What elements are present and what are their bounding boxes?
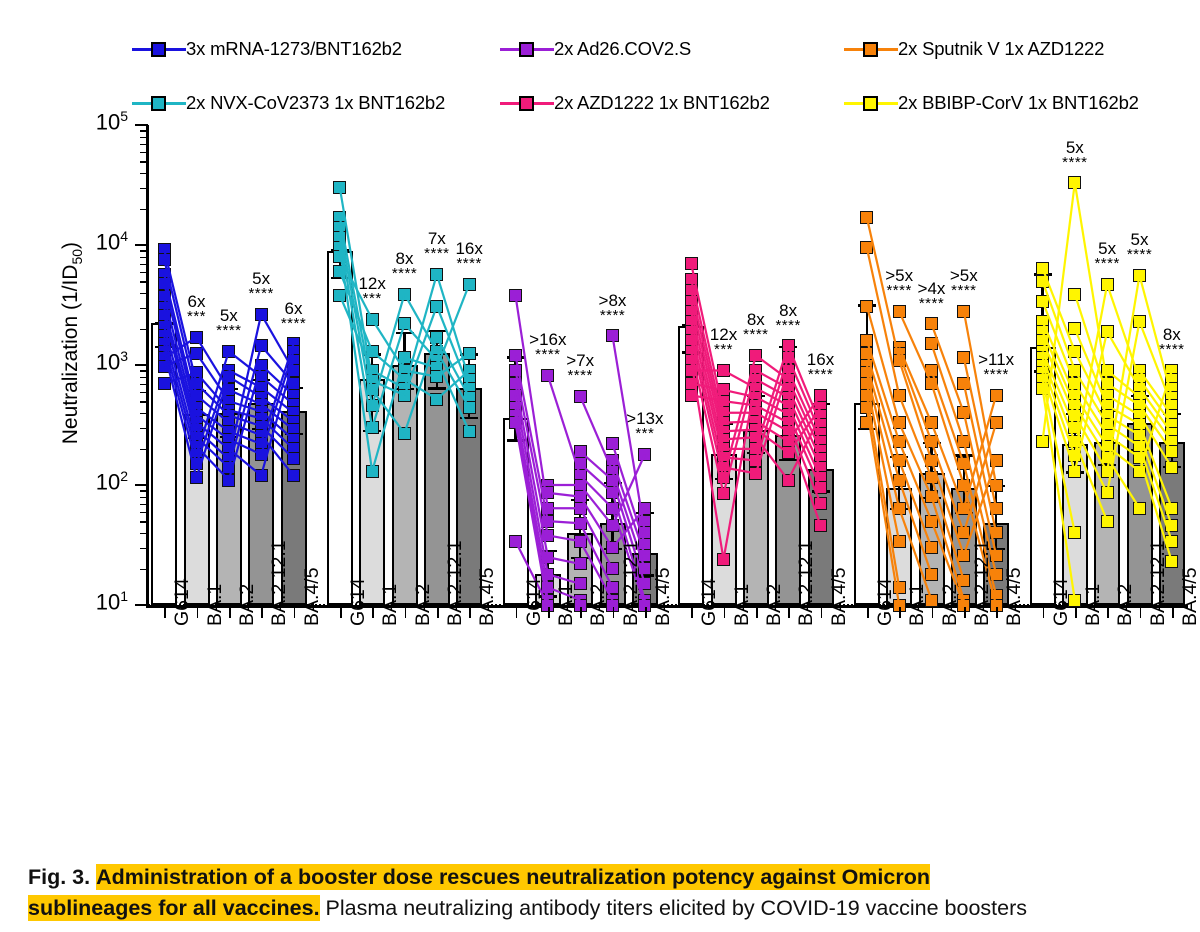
data-point: [1101, 486, 1114, 499]
legend-label-4: 2x AZD1222 1x BNT162b2: [554, 92, 770, 114]
significance-stars: ****: [540, 368, 620, 383]
x-axis-label: BA.2.12.1: [795, 540, 818, 626]
data-point: [606, 541, 619, 554]
data-point: [957, 502, 970, 515]
data-point: [366, 345, 379, 358]
data-point: [957, 406, 970, 419]
data-point: [574, 502, 587, 515]
y-tick-minor: [140, 370, 148, 372]
x-tick: [580, 607, 582, 618]
data-point: [1068, 421, 1081, 434]
data-point: [1101, 364, 1114, 377]
x-tick: [1107, 607, 1109, 618]
data-point: [1101, 451, 1114, 464]
square-marker-icon: [132, 38, 186, 60]
data-point: [1068, 288, 1081, 301]
y-tick-minor: [140, 144, 148, 146]
fold-change-annotation: 5x****: [221, 270, 301, 301]
legend-label-0: 3x mRNA-1273/BNT162b2: [186, 38, 402, 60]
data-point: [398, 389, 411, 402]
significance-stars: ***: [332, 291, 412, 306]
data-point: [749, 467, 762, 480]
data-point: [860, 389, 873, 402]
y-tick-label: 102: [28, 468, 128, 495]
data-point: [860, 401, 873, 414]
legend-item-3: 2x NVX-CoV2373 1x BNT162b2: [132, 90, 445, 116]
data-point: [1165, 445, 1178, 458]
y-tick-minor: [140, 264, 148, 266]
data-point: [158, 360, 171, 373]
data-point: [430, 393, 443, 406]
data-point: [606, 486, 619, 499]
data-point: [574, 535, 587, 548]
data-point: [893, 454, 906, 467]
data-point: [541, 529, 554, 542]
data-point: [606, 519, 619, 532]
y-tick-major: [135, 364, 148, 366]
x-tick: [516, 607, 518, 618]
significance-stars: ****: [781, 367, 861, 382]
x-axis-label: BA.2: [763, 584, 786, 626]
data-point: [430, 300, 443, 313]
y-tick-minor: [140, 392, 148, 394]
significance-stars: ****: [254, 316, 334, 331]
x-tick: [469, 607, 471, 618]
x-axis-label: BA.2: [587, 584, 610, 626]
y-tick-minor: [140, 152, 148, 154]
fold-change-annotation: >5x****: [924, 267, 1004, 298]
figure-panel: 3x mRNA-1273/BNT162b2 2x Ad26.COV2.S 2x …: [0, 0, 1200, 932]
data-point: [957, 457, 970, 470]
data-point: [398, 351, 411, 364]
y-tick-minor: [140, 449, 148, 451]
significance-stars: ***: [684, 342, 764, 357]
data-point: [717, 553, 730, 566]
y-tick-minor: [140, 293, 148, 295]
fold-change-annotation: 5x****: [1035, 139, 1115, 170]
data-point: [1068, 176, 1081, 189]
fold-change-annotation: 16x****: [429, 240, 509, 271]
data-point: [574, 445, 587, 458]
legend-item-5: 2x BBIBP-CorV 1x BNT162b2: [844, 90, 1139, 116]
y-tick-minor: [140, 272, 148, 274]
x-tick: [1043, 607, 1045, 618]
y-tick-minor: [140, 521, 148, 523]
x-axis-label: BA.2.12.1: [971, 540, 994, 626]
square-marker-icon: [500, 92, 554, 114]
data-point: [222, 474, 235, 487]
x-tick: [756, 607, 758, 618]
data-point: [509, 389, 522, 402]
data-point: [860, 211, 873, 224]
y-tick-label: 101: [28, 588, 128, 615]
x-axis-label: BA.1: [731, 584, 754, 626]
fold-change-annotation: 5x****: [1100, 231, 1180, 262]
x-axis-label: BA.1: [379, 584, 402, 626]
x-tick: [340, 607, 342, 618]
x-axis-label: G614: [347, 578, 370, 626]
x-tick: [724, 607, 726, 618]
data-point: [366, 399, 379, 412]
data-point: [860, 300, 873, 313]
data-point: [1133, 465, 1146, 478]
data-point: [1036, 295, 1049, 308]
x-tick: [899, 607, 901, 618]
fold-change-annotation: 8x****: [748, 302, 828, 333]
x-axis-label: BA.2: [1114, 584, 1137, 626]
data-point: [398, 427, 411, 440]
y-tick-minor: [140, 308, 148, 310]
data-point: [1036, 275, 1049, 288]
x-tick: [197, 607, 199, 618]
error-bar-cap: [955, 454, 973, 456]
data-point: [990, 454, 1003, 467]
x-axis-label: BA.2: [236, 584, 259, 626]
data-point: [541, 486, 554, 499]
data-point: [190, 389, 203, 402]
y-tick-minor: [140, 161, 148, 163]
data-point: [1101, 278, 1114, 291]
data-point: [606, 474, 619, 487]
significance-stars: ***: [605, 426, 685, 441]
data-point: [860, 241, 873, 254]
data-point: [509, 416, 522, 429]
data-point: [990, 526, 1003, 539]
x-tick: [867, 607, 869, 618]
plot-area: 6x***5x****5x****6x****12x***8x****7x***…: [148, 125, 1188, 605]
x-axis-label: G614: [698, 578, 721, 626]
y-tick-minor: [140, 209, 148, 211]
data-point: [606, 329, 619, 342]
data-point: [717, 487, 730, 500]
x-axis-label: BA.4/5: [1003, 567, 1026, 626]
x-tick: [294, 607, 296, 618]
significance-stars: ****: [1100, 247, 1180, 262]
data-point: [814, 519, 827, 532]
data-point: [893, 502, 906, 515]
data-point: [190, 457, 203, 470]
data-point: [957, 479, 970, 492]
data-point: [574, 557, 587, 570]
square-marker-icon: [500, 38, 554, 60]
fold-change-annotation: 16x****: [781, 351, 861, 382]
data-point: [509, 535, 522, 548]
x-axis-label: BA.2: [412, 584, 435, 626]
data-point: [158, 277, 171, 290]
x-axis-label: BA.1: [906, 584, 929, 626]
data-point: [814, 389, 827, 402]
data-point: [685, 257, 698, 270]
data-point: [541, 502, 554, 515]
data-point: [463, 425, 476, 438]
y-tick-minor: [140, 188, 148, 190]
data-point: [1101, 325, 1114, 338]
significance-stars: ****: [956, 367, 1036, 382]
significance-stars: ****: [1035, 155, 1115, 170]
x-axis-label: BA.2: [939, 584, 962, 626]
data-point: [893, 354, 906, 367]
square-marker-icon: [132, 92, 186, 114]
fold-change-annotation: 8x****: [1132, 326, 1200, 357]
legend-label-1: 2x Ad26.COV2.S: [554, 38, 691, 60]
x-tick: [261, 607, 263, 618]
legend-item-2: 2x Sputnik V 1x AZD1222: [844, 36, 1104, 62]
data-point: [990, 416, 1003, 429]
error-bar-cap: [460, 417, 478, 419]
data-point: [509, 364, 522, 377]
x-tick: [964, 607, 966, 618]
y-tick-minor: [140, 137, 148, 139]
y-tick-minor: [140, 533, 148, 535]
y-tick-label: 103: [28, 348, 128, 375]
data-point: [158, 377, 171, 390]
data-point: [255, 339, 268, 352]
chart-legend: 3x mRNA-1273/BNT162b2 2x Ad26.COV2.S 2x …: [132, 36, 1188, 120]
data-point: [893, 389, 906, 402]
x-axis-label: G614: [171, 578, 194, 626]
data-point: [1101, 465, 1114, 478]
data-point: [782, 446, 795, 459]
data-point: [255, 448, 268, 461]
data-point: [925, 337, 938, 350]
data-point: [925, 364, 938, 377]
x-axis-label: G614: [523, 578, 546, 626]
x-axis-label: G614: [1050, 578, 1073, 626]
y-tick-minor: [140, 329, 148, 331]
caption-body: Plasma neutralizing antibody titers elic…: [320, 896, 1027, 920]
data-point: [925, 317, 938, 330]
significance-stars: ****: [573, 308, 653, 323]
data-point: [638, 502, 651, 515]
y-tick-minor: [140, 281, 148, 283]
data-point: [782, 474, 795, 487]
data-point: [366, 465, 379, 478]
x-tick: [613, 607, 615, 618]
data-point: [1068, 322, 1081, 335]
x-tick: [788, 607, 790, 618]
data-point: [255, 469, 268, 482]
data-point: [430, 370, 443, 383]
legend-label-5: 2x BBIBP-CorV 1x BNT162b2: [898, 92, 1139, 114]
data-point: [287, 469, 300, 482]
y-tick-minor: [140, 257, 148, 259]
caption-highlight-line2: sublineages for all vaccines.: [28, 895, 320, 921]
data-point: [925, 515, 938, 528]
legend-item-1: 2x Ad26.COV2.S: [500, 36, 691, 62]
x-axis-label: BA.2.12.1: [444, 540, 467, 626]
fold-change-annotation: 6x****: [254, 300, 334, 331]
y-tick-minor: [140, 250, 148, 252]
data-point: [990, 479, 1003, 492]
data-point: [1165, 519, 1178, 532]
data-point: [1133, 451, 1146, 464]
x-axis-label: BA.1: [204, 584, 227, 626]
data-point: [1068, 449, 1081, 462]
y-tick-minor: [140, 173, 148, 175]
data-point: [860, 416, 873, 429]
y-tick-minor: [140, 413, 148, 415]
x-axis-label: BA.2.12.1: [268, 540, 291, 626]
data-point: [366, 383, 379, 396]
data-point: [1068, 364, 1081, 377]
y-tick-major: [135, 484, 148, 486]
data-point: [860, 334, 873, 347]
y-tick-major: [135, 244, 148, 246]
y-tick-major: [135, 604, 148, 606]
caption-highlight-line1: Administration of a booster dose rescues…: [96, 864, 930, 890]
data-point: [925, 416, 938, 429]
error-bar-cap: [428, 387, 446, 389]
data-point: [957, 526, 970, 539]
data-point: [333, 250, 346, 263]
significance-stars: ****: [924, 283, 1004, 298]
y-tick-minor: [140, 548, 148, 550]
figure-caption: Fig. 3. Administration of a booster dose…: [28, 862, 1184, 924]
bar: [503, 418, 529, 605]
fold-change-annotation: >13x***: [605, 410, 685, 441]
x-tick: [1140, 607, 1142, 618]
data-point: [1036, 262, 1049, 275]
data-point: [1165, 502, 1178, 515]
y-tick-minor: [140, 377, 148, 379]
data-point: [1165, 461, 1178, 474]
data-point: [925, 377, 938, 390]
legend-label-2: 2x Sputnik V 1x AZD1222: [898, 38, 1104, 60]
x-axis-label: BA.4/5: [828, 567, 851, 626]
x-axis-label: BA.4/5: [301, 567, 324, 626]
x-axis-label: G614: [874, 578, 897, 626]
y-tick-minor: [140, 504, 148, 506]
x-tick: [372, 607, 374, 618]
data-point: [430, 331, 443, 344]
data-point: [541, 515, 554, 528]
data-point: [814, 481, 827, 494]
data-point: [366, 313, 379, 326]
data-point: [287, 452, 300, 465]
error-bar-cap: [507, 439, 525, 441]
data-point: [893, 535, 906, 548]
data-point: [957, 549, 970, 562]
x-axis-label: BA.2.12.1: [1147, 540, 1170, 626]
data-point: [509, 289, 522, 302]
data-point: [1068, 526, 1081, 539]
data-point: [990, 389, 1003, 402]
data-point: [333, 181, 346, 194]
x-axis-label: BA.1: [1082, 584, 1105, 626]
data-point: [749, 454, 762, 467]
x-tick: [164, 607, 166, 618]
x-tick: [996, 607, 998, 618]
x-tick: [821, 607, 823, 618]
data-point: [1036, 435, 1049, 448]
y-tick-minor: [140, 569, 148, 571]
legend-item-4: 2x AZD1222 1x BNT162b2: [500, 90, 770, 116]
y-tick-label: 105: [28, 108, 128, 135]
data-point: [1068, 465, 1081, 478]
data-point: [925, 435, 938, 448]
data-point: [222, 370, 235, 383]
data-point: [685, 364, 698, 377]
data-point: [717, 364, 730, 377]
data-point: [574, 390, 587, 403]
significance-stars: ****: [1132, 342, 1200, 357]
x-tick: [932, 607, 934, 618]
data-point: [925, 541, 938, 554]
x-tick: [405, 607, 407, 618]
x-tick: [1172, 607, 1174, 618]
data-point: [606, 502, 619, 515]
legend-label-3: 2x NVX-CoV2373 1x BNT162b2: [186, 92, 445, 114]
data-point: [222, 461, 235, 474]
y-tick-minor: [140, 401, 148, 403]
data-point: [158, 253, 171, 266]
x-tick: [1075, 607, 1077, 618]
data-point: [287, 364, 300, 377]
x-axis-label: BA.4/5: [476, 567, 499, 626]
x-tick: [645, 607, 647, 618]
data-point: [463, 278, 476, 291]
data-point: [893, 435, 906, 448]
data-point: [574, 517, 587, 530]
data-point: [463, 347, 476, 360]
data-point: [925, 471, 938, 484]
data-point: [717, 471, 730, 484]
bar: [854, 403, 880, 605]
x-tick: [229, 607, 231, 618]
data-point: [893, 416, 906, 429]
y-tick-minor: [140, 512, 148, 514]
data-point: [606, 562, 619, 575]
y-tick-label: 104: [28, 228, 128, 255]
data-point: [893, 474, 906, 487]
fold-change-annotation: >7x****: [540, 352, 620, 383]
x-tick: [548, 607, 550, 618]
data-point: [990, 502, 1003, 515]
data-point: [1133, 502, 1146, 515]
y-tick-minor: [140, 384, 148, 386]
y-tick-minor: [140, 130, 148, 132]
square-marker-icon: [844, 92, 898, 114]
fold-change-annotation: >11x****: [956, 351, 1036, 382]
data-point: [685, 389, 698, 402]
data-point: [398, 317, 411, 330]
y-tick-major: [135, 124, 148, 126]
data-point: [1036, 382, 1049, 395]
error-bar-cap: [396, 332, 414, 334]
data-point: [366, 421, 379, 434]
error-bar: [930, 442, 932, 497]
y-tick-minor: [140, 497, 148, 499]
legend-item-0: 3x mRNA-1273/BNT162b2: [132, 36, 402, 62]
data-point: [1068, 345, 1081, 358]
y-tick-minor: [140, 428, 148, 430]
figure-number: Fig. 3.: [28, 865, 90, 889]
data-point: [190, 471, 203, 484]
fold-change-annotation: >8x****: [573, 292, 653, 323]
x-axis-label: BA.4/5: [652, 567, 675, 626]
data-point: [925, 454, 938, 467]
data-point: [541, 551, 554, 564]
data-point: [638, 448, 651, 461]
significance-stars: ****: [429, 256, 509, 271]
data-point: [1068, 409, 1081, 422]
data-point: [957, 435, 970, 448]
data-point: [814, 497, 827, 510]
data-point: [1101, 515, 1114, 528]
data-point: [222, 345, 235, 358]
significance-stars: ****: [748, 318, 828, 333]
x-tick: [437, 607, 439, 618]
